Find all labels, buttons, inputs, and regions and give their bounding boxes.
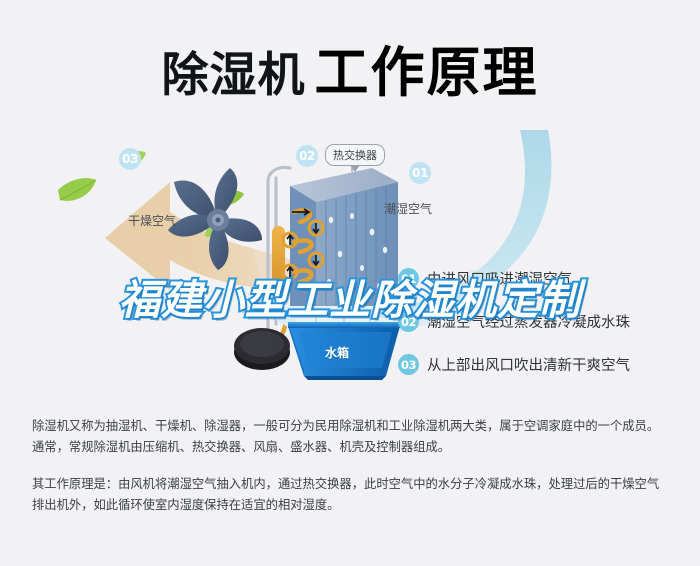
label-humid-air: 潮湿空气 (384, 200, 432, 217)
paragraph-1-line-2: 通常，常规除湿机由压缩机、热交换器、风扇、盛水器、机壳及控制器组成。 (32, 437, 672, 458)
paragraph-2-line-1: 其工作原理是：由风机将潮湿空气抽入机内，通过热交换器，此时空气中的水分子冷凝成水… (32, 474, 672, 495)
badge-01-humid-air: 01 (409, 162, 431, 184)
page-title-part1: 除湿机 (162, 48, 306, 103)
paragraph-spacer (32, 458, 672, 474)
page-title: 除湿机工作原理 (0, 28, 700, 107)
label-dry-air: 干燥空气 (128, 212, 176, 229)
list-item: 03 从上部出风口吹出清新干爽空气 (398, 354, 698, 375)
label-heat-exchanger: 热交换器 (325, 144, 385, 166)
badge-02-heat-exchanger: 02 (296, 145, 318, 167)
watermark-text: 福建小型工业除湿机定制 (0, 266, 700, 326)
compressor (234, 328, 290, 370)
infographic-page: 除湿机工作原理 (0, 0, 700, 566)
paragraph-1-line-1: 除湿机又称为抽湿机、干燥机、除湿器，一般可分为民用除湿机和工业除湿机两大类，属于… (32, 416, 672, 437)
step-text-03: 从上部出风口吹出清新干爽空气 (427, 354, 630, 375)
paragraph-2-line-2: 排出机外，如此循环使室内湿度保持在适宜的相对湿度。 (32, 495, 672, 516)
step-badge-03: 03 (398, 354, 419, 375)
body-copy: 除湿机又称为抽湿机、干燥机、除湿器，一般可分为民用除湿机和工业除湿机两大类，属于… (32, 416, 672, 516)
label-water-tank: 水箱 (325, 344, 349, 361)
page-title-part2: 工作原理 (315, 41, 539, 104)
badge-03-dry-air: 03 (119, 148, 141, 170)
